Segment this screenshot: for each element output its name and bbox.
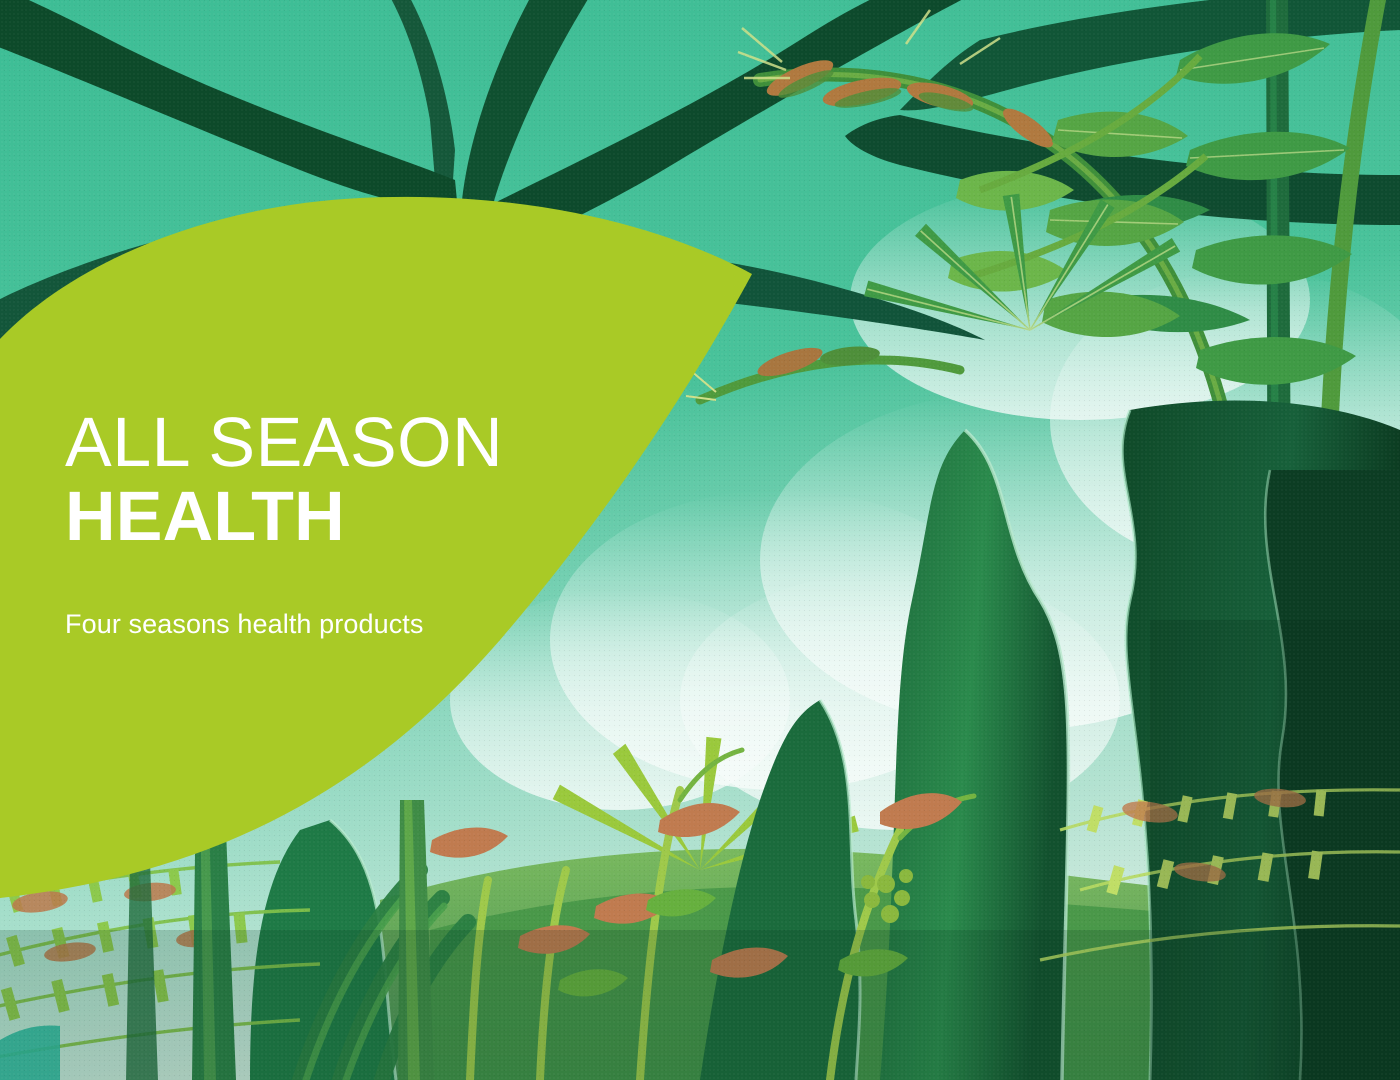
hero-text-block: ALL SEASON HEALTH Four seasons health pr… [65, 405, 585, 641]
slide-canvas: ALL SEASON HEALTH Four seasons health pr… [0, 0, 1400, 1080]
page-title-line-1: ALL SEASON [65, 405, 585, 479]
page-title-line-2: HEALTH [65, 479, 585, 553]
page-subtitle: Four seasons health products [65, 607, 585, 641]
